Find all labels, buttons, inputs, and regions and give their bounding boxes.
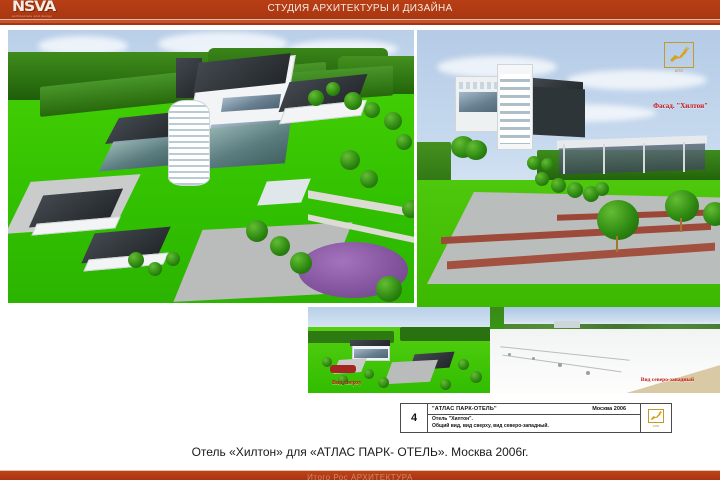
tree [396, 134, 412, 150]
glazing [354, 349, 388, 358]
curved-tower [168, 100, 210, 186]
column [683, 142, 685, 172]
tree [541, 158, 554, 171]
tree-trunk [680, 218, 682, 232]
emblem-frame [664, 42, 694, 68]
render-facade-view: АПО Фасад. "Хилтон" [417, 30, 720, 310]
dark-block [533, 87, 585, 138]
slide-stage: АПО Фасад. "Хилтон" [0, 25, 720, 435]
tree-trunk [616, 236, 618, 252]
hedge [400, 327, 490, 341]
tree [128, 252, 144, 268]
tree [551, 178, 566, 193]
top-view-label: Вид сверху [332, 380, 362, 386]
roof [350, 340, 390, 346]
tree-large [597, 200, 639, 240]
emblem-caption: АПО [653, 424, 659, 428]
tree [340, 150, 360, 170]
tree [322, 357, 332, 367]
tree [470, 371, 482, 383]
red-roof-pavilion [330, 365, 356, 373]
slide-caption: Отель «Хилтон» для «АТЛАС ПАРК- ОТЕЛЬ». … [0, 445, 720, 459]
tree [360, 170, 378, 188]
tree [378, 377, 389, 388]
footer-bar: Итого Рос АРХИТЕКТУРА [0, 470, 720, 480]
tree [595, 182, 609, 196]
tower-window-bands [500, 74, 530, 144]
emblem-caption: АПО [660, 69, 698, 73]
project-emblem: АПО [660, 42, 698, 78]
title-block-header-row: "АТЛАС ПАРК-ОТЕЛЬ" Москва 2006 [428, 404, 640, 415]
tree [440, 379, 451, 390]
tree [344, 92, 362, 110]
title-block-emblem: АПО [640, 404, 671, 432]
emblem-frame [648, 409, 664, 423]
sheet-number: 4 [401, 404, 428, 432]
footer-text: Итого Рос АРХИТЕКТУРА [0, 473, 720, 480]
title-block-description: Отель "Хилтон". Общий вид, вид сверху, в… [428, 415, 640, 432]
tree [703, 202, 720, 226]
description-line-2: Общий вид, вид сверху, вид северо-западн… [432, 423, 636, 430]
lamp-post [558, 363, 562, 367]
column [643, 143, 645, 173]
tree [527, 156, 541, 170]
tree [364, 369, 374, 379]
tree-large [665, 190, 699, 222]
lamp-post [532, 357, 535, 360]
tree [384, 112, 402, 130]
drawing-title-block: 4 "АТЛАС ПАРК-ОТЕЛЬ" Москва 2006 Отель "… [400, 403, 672, 433]
tree [290, 252, 312, 274]
glass-atrium [205, 119, 291, 169]
distant-building [554, 321, 580, 328]
facade-view-label: Фасад. "Хилтон" [653, 102, 708, 110]
tree [148, 262, 162, 276]
header-title: СТУДИЯ АРХИТЕКТУРЫ И ДИЗАЙНА [0, 3, 720, 14]
tree [376, 276, 402, 302]
tree [535, 172, 549, 186]
tree [567, 182, 583, 198]
antelope-icon [650, 410, 663, 421]
project-name: "АТЛАС ПАРК-ОТЕЛЬ" [432, 406, 497, 412]
north-west-view-label: Вид северо-западный [641, 377, 694, 383]
title-block-body: "АТЛАС ПАРК-ОТЕЛЬ" Москва 2006 Отель "Хи… [428, 404, 640, 432]
render-north-west-view: Вид северо-западный [490, 307, 720, 393]
tree [166, 252, 180, 266]
tree [364, 102, 380, 118]
render-top-view: Вид сверху [308, 307, 490, 393]
column [603, 144, 605, 174]
tree [402, 200, 414, 218]
lamp-post [586, 371, 590, 375]
antelope-icon [668, 46, 690, 64]
tree [308, 90, 324, 106]
tree [326, 82, 340, 96]
tree [465, 140, 487, 160]
tree [270, 236, 290, 256]
lamp-post [508, 353, 511, 356]
tree [458, 359, 469, 370]
render-main-aerial-view [8, 30, 414, 303]
project-city-year: Москва 2006 [592, 406, 636, 412]
column [563, 144, 565, 174]
tree [246, 220, 268, 242]
plaza [384, 360, 438, 384]
